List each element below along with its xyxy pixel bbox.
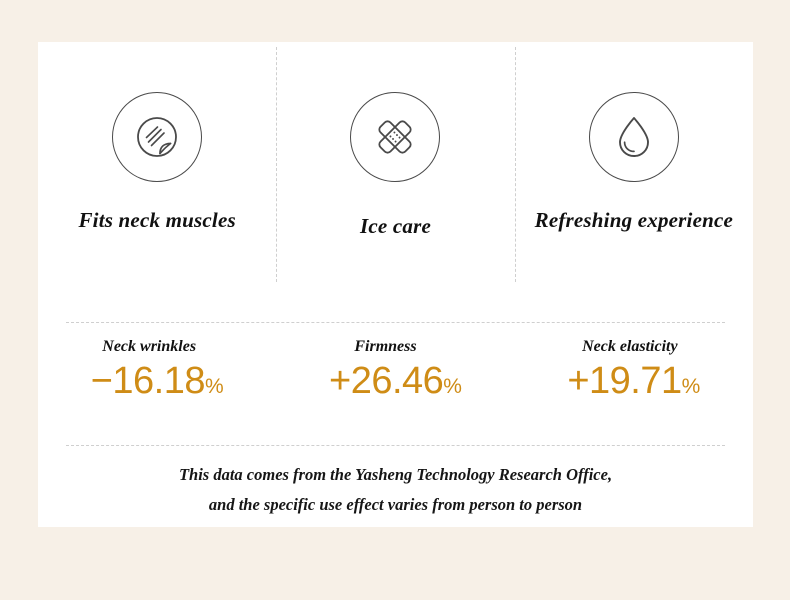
footnote: This data comes from the Yasheng Technol… bbox=[38, 460, 753, 520]
stat-item-neck-wrinkles: Neck wrinkles −16.18% bbox=[38, 338, 276, 443]
feature-item-fits-neck-muscles: Fits neck muscles bbox=[38, 42, 276, 282]
stat-number: +19.71 bbox=[567, 360, 681, 402]
water-droplet-icon bbox=[589, 92, 679, 182]
stats-list: Neck wrinkles −16.18% Firmness +26.46% N… bbox=[38, 338, 753, 443]
feature-label: Ice care bbox=[360, 214, 431, 239]
divider-below-stats bbox=[66, 445, 725, 446]
stat-label: Neck elasticity bbox=[582, 338, 678, 356]
feature-item-refreshing-experience: Refreshing experience bbox=[515, 42, 753, 282]
stat-unit: % bbox=[682, 375, 701, 398]
stat-label: Neck wrinkles bbox=[102, 338, 196, 356]
footnote-line-1: This data comes from the Yasheng Technol… bbox=[38, 460, 753, 490]
footnote-line-2: and the specific use effect varies from … bbox=[38, 490, 753, 520]
stat-value: +26.46% bbox=[329, 360, 462, 404]
stat-item-firmness: Firmness +26.46% bbox=[276, 338, 514, 443]
stat-number: +26.46 bbox=[329, 360, 443, 402]
product-benefits-panel: Fits neck muscles bbox=[0, 0, 790, 600]
stat-item-neck-elasticity: Neck elasticity +19.71% bbox=[515, 338, 753, 443]
feature-item-ice-care: Ice care bbox=[276, 42, 514, 282]
feature-list: Fits neck muscles bbox=[38, 42, 753, 282]
neck-pad-icon bbox=[112, 92, 202, 182]
stat-unit: % bbox=[205, 375, 224, 398]
stat-number: −16.18 bbox=[91, 360, 205, 402]
stat-value: +19.71% bbox=[567, 360, 700, 404]
feature-label: Refreshing experience bbox=[535, 208, 733, 233]
feature-label: Fits neck muscles bbox=[78, 208, 235, 233]
divider-above-stats bbox=[66, 322, 725, 323]
stat-value: −16.18% bbox=[91, 360, 224, 404]
crossed-bandage-icon bbox=[350, 92, 440, 182]
stat-label: Firmness bbox=[354, 338, 416, 356]
stat-unit: % bbox=[443, 375, 462, 398]
content-card: Fits neck muscles bbox=[38, 42, 753, 527]
